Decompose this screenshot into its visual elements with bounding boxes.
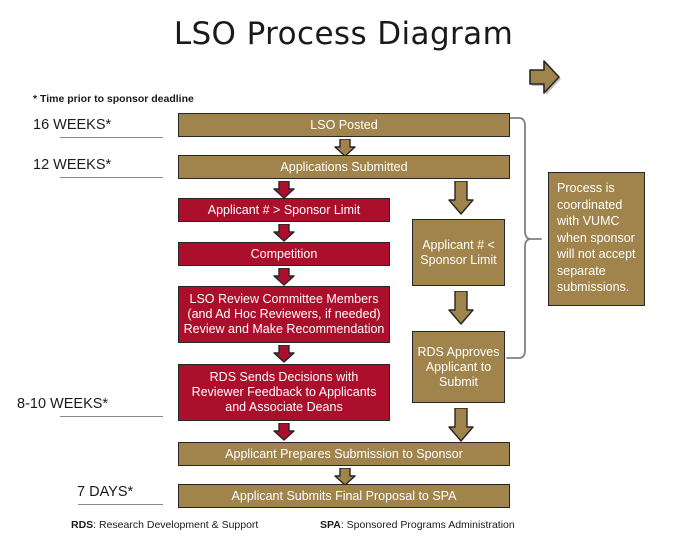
timeline-label-12-weeks: 12 WEEKS* [33,157,111,173]
arrow-down-block-icon [273,268,295,286]
arrow-down-block-icon [448,291,474,325]
arrow-down-block-icon [448,181,474,215]
legend-spa-abbr: SPA [320,519,341,531]
timeline-label-7-days: 7 DAYS* [77,484,133,500]
process-box-rds-sends-decisions[interactable]: RDS Sends Decisions with Reviewer Feedba… [178,364,390,421]
process-box-applications-submitted[interactable]: Applications Submitted [178,155,510,179]
legend-rds-text: : Research Development & Support [93,519,258,531]
process-box-applicant-over-limit[interactable]: Applicant # > Sponsor Limit [178,198,390,222]
process-box-applicant-submits[interactable]: Applicant Submits Final Proposal to SPA [178,484,510,508]
arrow-down-block-icon [273,224,295,242]
process-box-applicant-under-limit[interactable]: Applicant # < Sponsor Limit [412,219,505,286]
brace-connector-icon [505,114,547,364]
arrow-down-block-icon [273,345,295,363]
timeline-underline-12-weeks [60,177,163,178]
legend-rds: RDS: Research Development & Support [71,519,258,531]
process-box-lso-posted[interactable]: LSO Posted [178,113,510,137]
timeline-underline-8-10-weeks [60,416,163,417]
slide-canvas: LSO Process Diagram * Time prior to spon… [0,0,687,543]
arrow-down-block-icon [273,181,295,199]
arrow-down-block-icon [273,423,295,441]
process-box-rds-approves[interactable]: RDS Approves Applicant to Submit [412,331,505,403]
process-box-applicant-prepares[interactable]: Applicant Prepares Submission to Sponsor [178,442,510,466]
process-box-competition[interactable]: Competition [178,242,390,266]
footnote-time-prior: * Time prior to sponsor deadline [33,93,194,105]
arrow-down-block-icon [448,408,474,442]
legend-spa-text: : Sponsored Programs Administration [341,519,515,531]
timeline-underline-16-weeks [60,137,163,138]
timeline-label-16-weeks: 16 WEEKS* [33,117,111,133]
note-box-vumc-coordination[interactable]: Process is coordinated with VUMC when sp… [548,172,645,306]
legend-rds-abbr: RDS [71,519,93,531]
timeline-label-8-10-weeks: 8-10 WEEKS* [17,396,108,412]
page-title: LSO Process Diagram [0,16,687,52]
legend-spa: SPA: Sponsored Programs Administration [320,519,515,531]
timeline-underline-7-days [78,504,163,505]
arrow-right-block-icon [528,58,564,100]
process-box-lso-review-committee[interactable]: LSO Review Committee Members (and Ad Hoc… [178,286,390,343]
